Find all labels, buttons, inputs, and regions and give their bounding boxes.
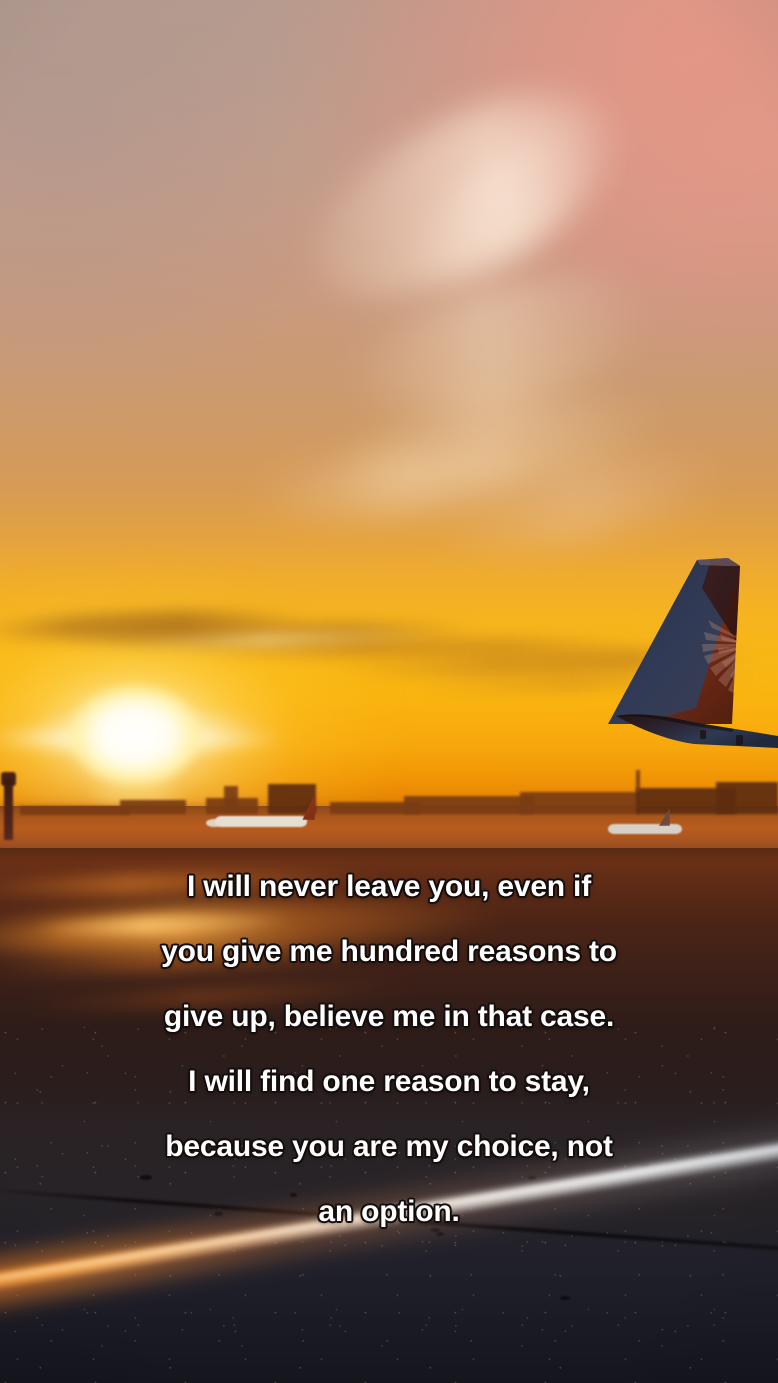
- airplane-tail: [600, 548, 778, 778]
- asphalt-pebble: [560, 1296, 570, 1300]
- photo-frame: I will never leave you, even if you give…: [0, 0, 778, 1383]
- caption-line: an option.: [0, 1196, 778, 1229]
- caption-line: you give me hundred reasons to: [0, 936, 778, 969]
- sun-core: [69, 686, 201, 784]
- caption-line: give up, believe me in that case.: [0, 1001, 778, 1034]
- distant-airplane-right: [608, 824, 682, 834]
- tree-line-silhouette: [20, 806, 130, 815]
- caption-line: because you are my choice, not: [0, 1131, 778, 1164]
- horizontal-stabilizer: [614, 702, 778, 748]
- caption-line: I will never leave you, even if: [0, 871, 778, 904]
- airport-buildings-silhouette: [206, 798, 258, 814]
- airport-buildings-silhouette: [716, 782, 778, 814]
- airport-buildings-silhouette: [404, 796, 534, 814]
- stabilizer-surface: [616, 714, 778, 748]
- distant-airplane-left: [215, 816, 307, 827]
- stabilizer-fairing: [736, 735, 743, 745]
- stabilizer-fairing: [700, 730, 706, 739]
- airport-buildings-silhouette: [520, 792, 640, 814]
- sky-pink-wash-secondary: [0, 0, 778, 460]
- tail-fin-top-highlight: [697, 558, 740, 566]
- caption-text-block: I will never leave you, even if you give…: [0, 838, 778, 1261]
- light-pole: [4, 778, 13, 840]
- caption-line: I will find one reason to stay,: [0, 1066, 778, 1099]
